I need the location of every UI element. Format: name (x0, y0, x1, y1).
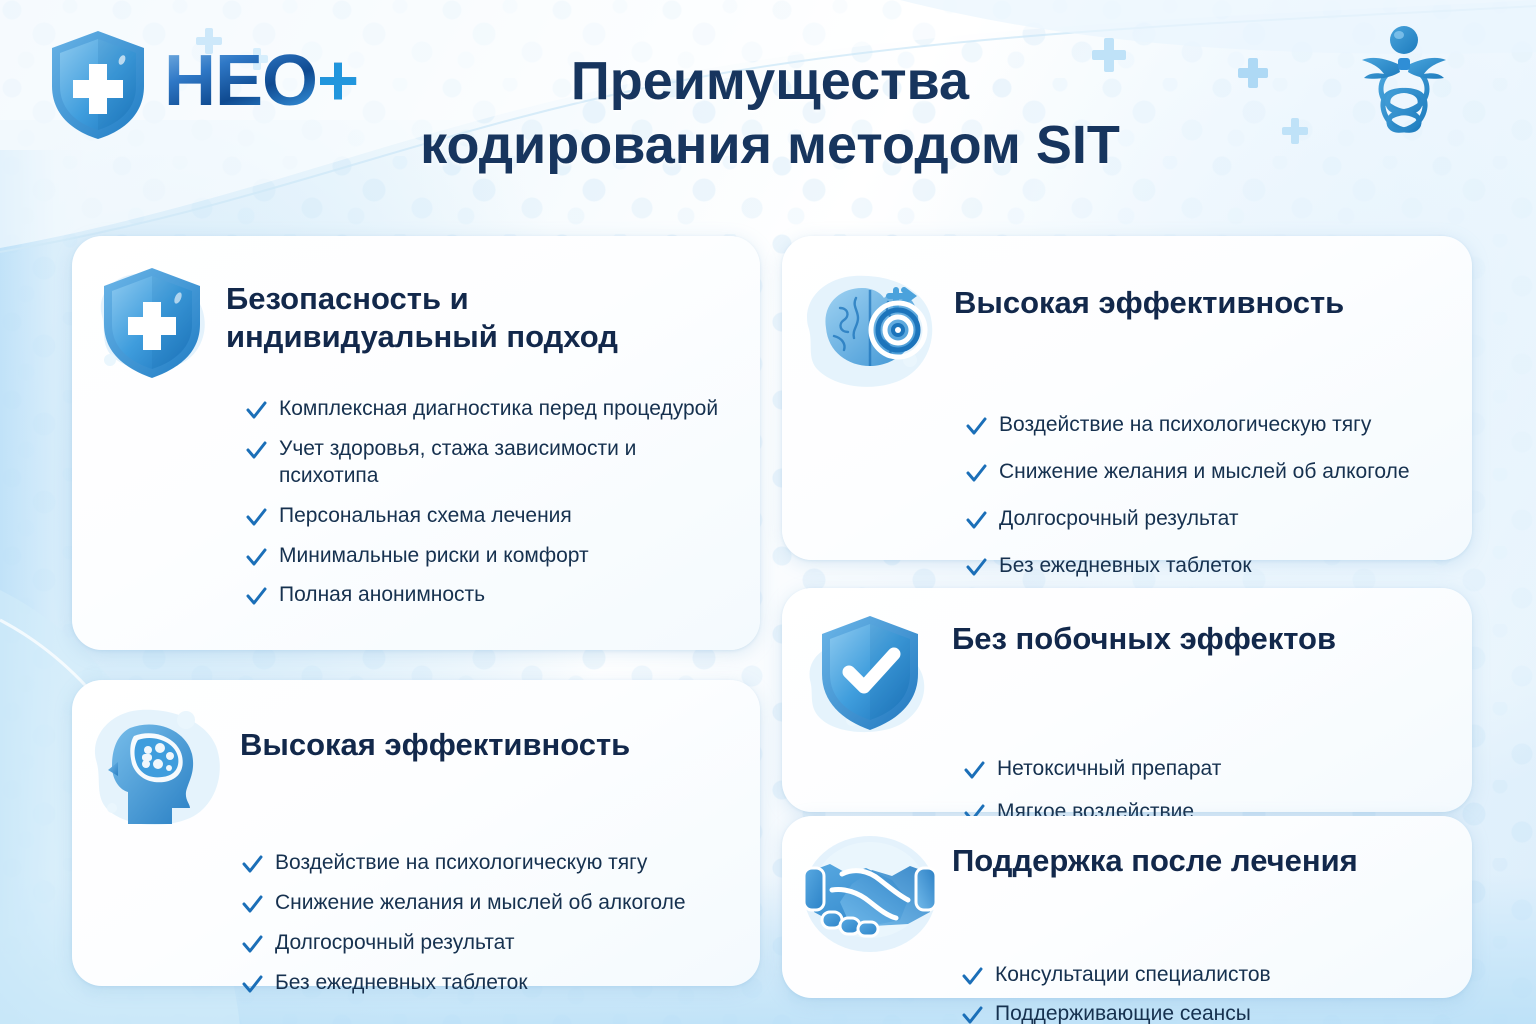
list-item: Учет здоровья, стажа зависимости и психо… (246, 436, 736, 490)
list-item: Без ежедневных таблеток (242, 970, 736, 997)
list-item-label: Полная анонимность (279, 582, 485, 609)
benefit-list: Комплексная диагностика перед процедурой… (246, 396, 736, 609)
card-title: Поддержка после лечения (952, 828, 1358, 880)
benefit-list: Воздействие на психологическую тягу Сниж… (966, 412, 1450, 580)
list-item: Нетоксичный препарат (964, 756, 1450, 783)
card-header: Высокая эффективность (796, 256, 1450, 406)
list-item: Долгосрочный результат (242, 930, 736, 957)
list-item: Персональная схема лечения (246, 503, 736, 530)
handshake-icon (796, 828, 944, 960)
list-item: Комплексная диагностика перед процедурой (246, 396, 736, 423)
check-icon (242, 892, 263, 916)
list-item-label: Снижение желания и мыслей об алкоголе (275, 890, 686, 917)
card-title: Высокая эффективность (240, 696, 630, 764)
card-post-treatment-support[interactable]: Поддержка после лечения Консультации спе… (782, 816, 1472, 998)
card-title: Без побочных эффектов (952, 604, 1336, 658)
page-title-line-2: кодирования методом SIT (320, 114, 1220, 178)
list-item: Снижение желания и мыслей об алкоголе (242, 890, 736, 917)
infographic-poster: НЕО+ Преимущества кодирования методом SI… (0, 0, 1536, 1024)
list-item: Воздействие на психологическую тягу (966, 412, 1450, 439)
card-header: Поддержка после лечения (796, 828, 1452, 960)
shield-check-icon (796, 604, 944, 752)
list-item: Полная анонимность (246, 582, 736, 609)
brand-logo-text-main: НЕО (164, 41, 317, 121)
check-icon (966, 461, 987, 485)
list-item-label: Воздействие на психологическую тягу (275, 850, 647, 877)
card-header: Без побочных эффектов (796, 604, 1450, 752)
check-icon (962, 964, 983, 988)
check-icon (246, 545, 267, 569)
card-header: Безопасность и индивидуальный подход (86, 254, 736, 386)
card-header: Высокая эффективность (82, 696, 736, 846)
card-high-effectiveness-right[interactable]: Высокая эффективность Воздействие на пси… (782, 236, 1472, 560)
list-item-label: Долгосрочный результат (275, 930, 515, 957)
check-icon (246, 505, 267, 529)
list-item-label: Долгосрочный результат (999, 506, 1239, 533)
check-icon (966, 508, 987, 532)
check-icon (246, 438, 267, 462)
check-icon (242, 972, 263, 996)
list-item: Долгосрочный результат (966, 506, 1450, 533)
card-safety-and-individual-approach[interactable]: Безопасность и индивидуальный подход Ком… (72, 236, 760, 650)
shield-cross-logo-icon (46, 28, 150, 142)
card-title: Безопасность и индивидуальный подход (226, 254, 736, 357)
list-item-label: Воздействие на психологическую тягу (999, 412, 1371, 439)
list-item-label: Комплексная диагностика перед процедурой (279, 396, 718, 423)
list-item: Снижение желания и мыслей об алкоголе (966, 459, 1450, 486)
check-icon (962, 1003, 983, 1024)
check-icon (246, 584, 267, 608)
card-title: Высокая эффективность (954, 256, 1344, 322)
brain-target-icon (796, 256, 946, 406)
check-icon (246, 398, 267, 422)
list-item-label: Учет здоровья, стажа зависимости и психо… (279, 436, 736, 490)
list-item: Поддерживающие сеансы (962, 1001, 1452, 1024)
check-icon (242, 852, 263, 876)
list-item-label: Персональная схема лечения (279, 503, 572, 530)
check-icon (964, 758, 985, 782)
list-item-label: Поддерживающие сеансы (995, 1001, 1251, 1024)
head-brain-icon (82, 696, 232, 846)
list-item: Без ежедневных таблеток (966, 553, 1450, 580)
card-no-side-effects[interactable]: Без побочных эффектов Нетоксичный препар… (782, 588, 1472, 812)
check-icon (242, 932, 263, 956)
list-item-label: Без ежедневных таблеток (999, 553, 1252, 580)
list-item: Минимальные риски и комфорт (246, 543, 736, 570)
shield-cross-icon (86, 254, 218, 386)
list-item: Воздействие на психологическую тягу (242, 850, 736, 877)
list-item-label: Без ежедневных таблеток (275, 970, 528, 997)
list-item-label: Нетоксичный препарат (997, 756, 1221, 783)
list-item-label: Минимальные риски и комфорт (279, 543, 589, 570)
card-high-effectiveness-left[interactable]: Высокая эффективность Воздействие на пси… (72, 680, 760, 986)
list-item-label: Консультации специалистов (995, 962, 1271, 989)
list-item-label: Снижение желания и мыслей об алкоголе (999, 459, 1410, 486)
page-title-line-1: Преимущества (571, 51, 969, 111)
poster-header: НЕО+ Преимущества кодирования методом SI… (0, 0, 1536, 212)
caduceus-icon (1358, 18, 1450, 178)
benefit-list: Воздействие на психологическую тягу Сниж… (242, 850, 736, 997)
check-icon (966, 555, 987, 579)
brand-logo: НЕО+ (46, 28, 358, 142)
check-icon (966, 414, 987, 438)
page-title: Преимущества кодирования методом SIT (320, 50, 1220, 177)
list-item: Консультации специалистов (962, 962, 1452, 989)
benefit-list: Консультации специалистов Поддерживающие… (962, 962, 1452, 1024)
